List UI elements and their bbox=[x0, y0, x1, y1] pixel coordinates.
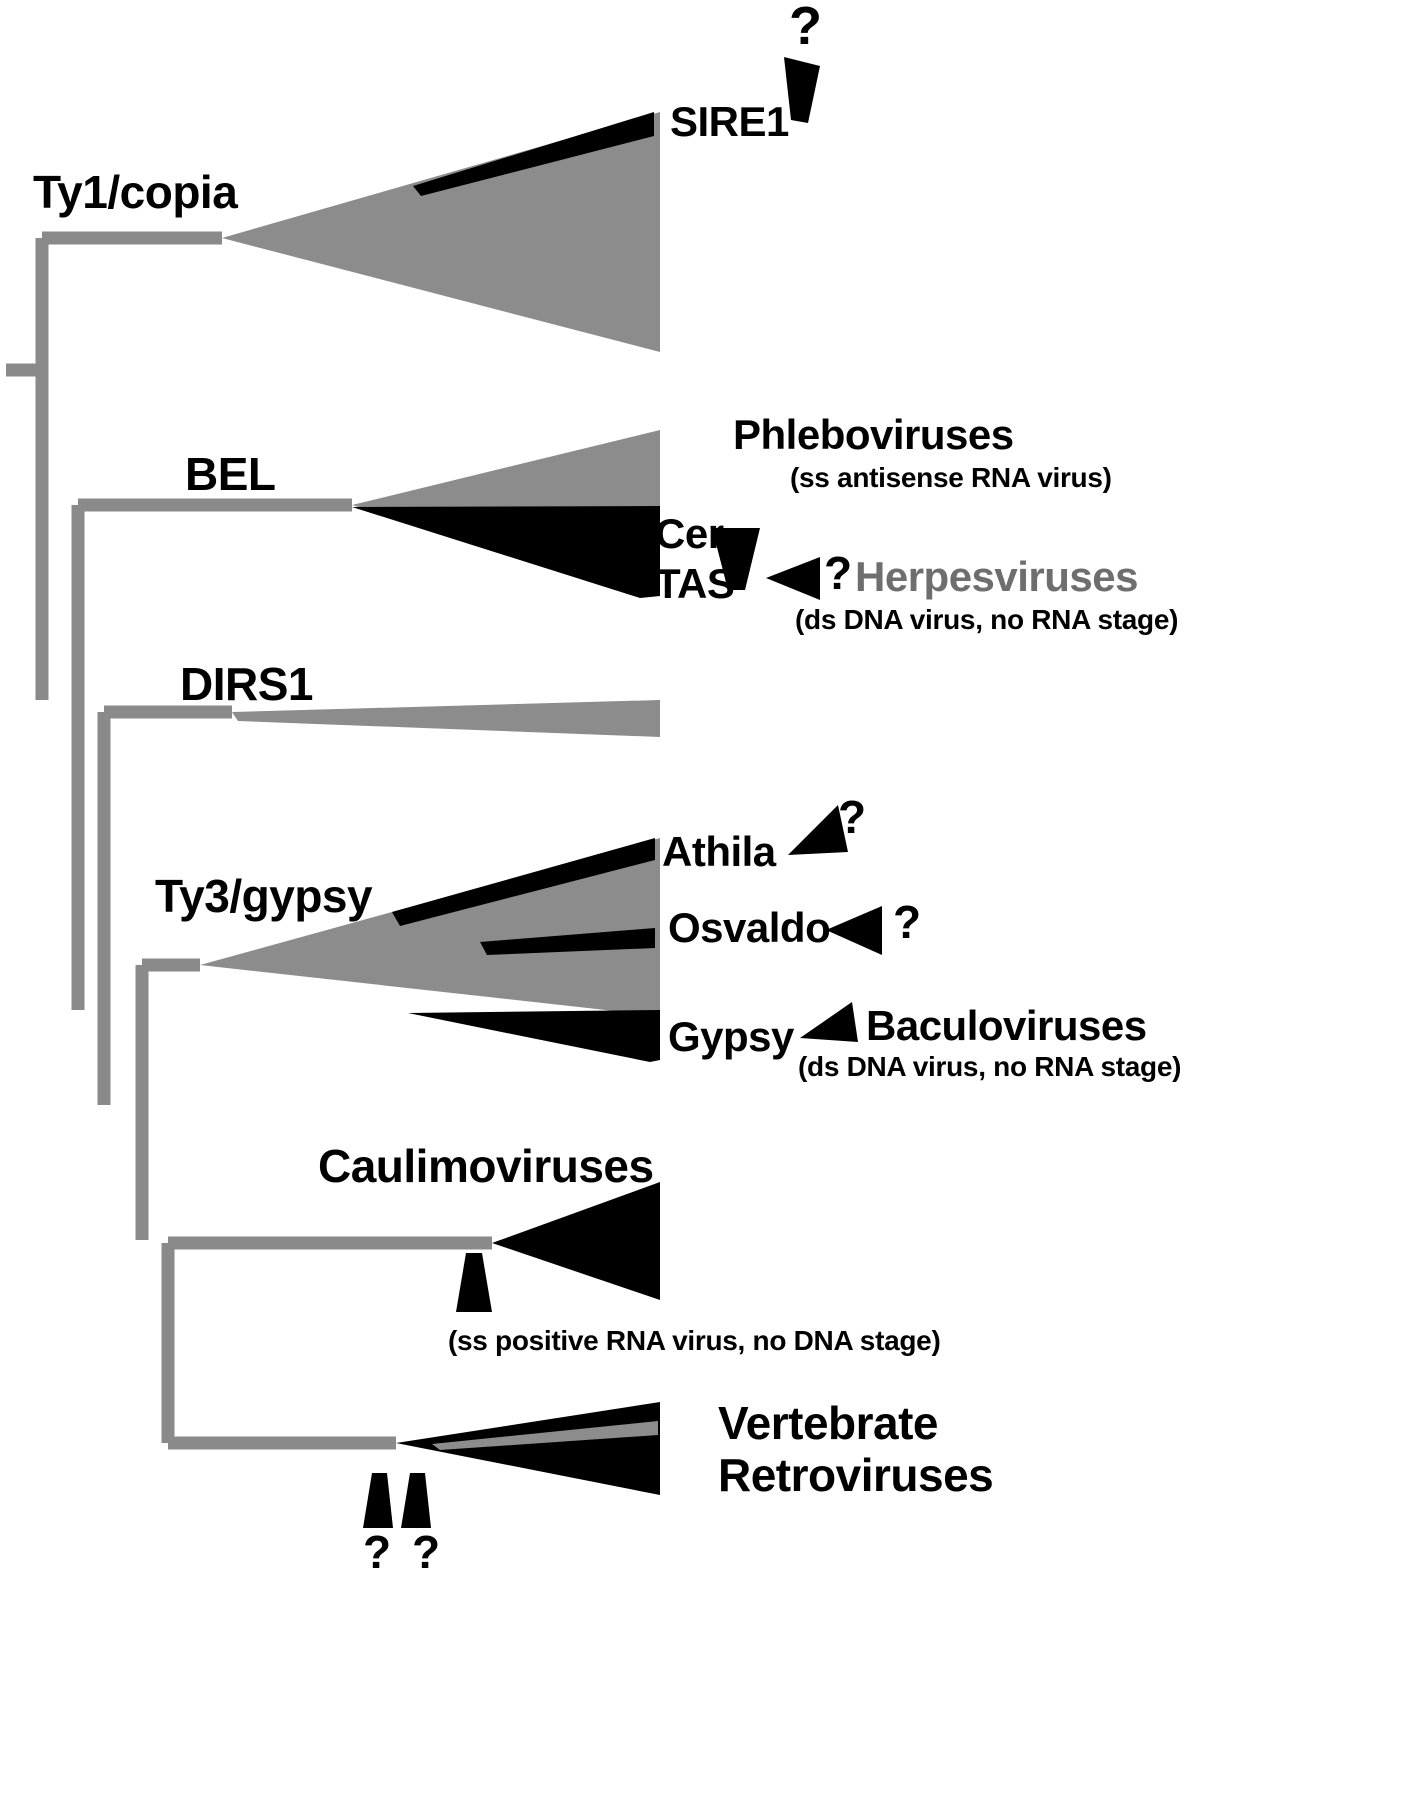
taxon-label-tas: TAS bbox=[655, 562, 734, 606]
virus-caption-caulimoviruses: (ss positive RNA virus, no DNA stage) bbox=[448, 1326, 940, 1355]
wedge-caulimoviruses bbox=[492, 1182, 660, 1300]
question-mark-vertretro-2: ? bbox=[412, 1528, 440, 1576]
arrow-vertretro-up-2 bbox=[401, 1473, 431, 1528]
wedge-vertebrate-retroviruses bbox=[396, 1402, 660, 1495]
taxon-label-cer: Cer bbox=[655, 512, 724, 556]
taxon-label-gypsy: Gypsy bbox=[668, 1015, 794, 1059]
question-mark-vertretro-1: ? bbox=[363, 1528, 391, 1576]
arrow-vertretro-up-1 bbox=[363, 1473, 393, 1528]
clade-label-vertebrate-retroviruses-line1: Vertebrate bbox=[718, 1398, 993, 1450]
arrow-herpesviruses-left bbox=[766, 557, 820, 600]
clade-label-vertebrate-retroviruses: Vertebrate Retroviruses bbox=[718, 1398, 993, 1501]
clade-label-vertebrate-retroviruses-line2: Retroviruses bbox=[718, 1450, 993, 1502]
virus-label-herpesviruses: Herpesviruses bbox=[855, 555, 1138, 599]
wedge-bel bbox=[352, 430, 660, 598]
virus-caption-herpesviruses: (ds DNA virus, no RNA stage) bbox=[795, 605, 1178, 634]
virus-label-phleboviruses: Phleboviruses bbox=[733, 413, 1014, 457]
clade-label-dirs1: DIRS1 bbox=[180, 660, 313, 708]
taxon-label-osvaldo: Osvaldo bbox=[668, 906, 830, 950]
wedge-ty3gypsy-gypsy-black bbox=[408, 1010, 660, 1062]
wedge-bel-cer-tas-black bbox=[352, 506, 660, 598]
clade-label-ty3-gypsy: Ty3/gypsy bbox=[155, 872, 372, 920]
virus-label-baculoviruses: Baculoviruses bbox=[866, 1004, 1147, 1048]
arrow-osvaldo-left bbox=[826, 906, 882, 955]
question-mark-athila: ? bbox=[838, 793, 866, 841]
arrow-sire1-down bbox=[784, 57, 820, 123]
clade-label-bel: BEL bbox=[185, 450, 276, 498]
clade-label-ty1-copia: Ty1/copia bbox=[33, 168, 237, 216]
taxon-label-sire1: SIRE1 bbox=[670, 100, 789, 144]
wedge-caulimoviruses-black bbox=[492, 1182, 660, 1300]
taxon-label-athila: Athila bbox=[662, 830, 776, 874]
question-mark-tas: ? bbox=[824, 549, 852, 597]
wedge-ty1copia bbox=[222, 112, 660, 352]
arrow-caulimoviruses-up bbox=[456, 1253, 492, 1312]
tree-branches bbox=[6, 238, 492, 1443]
question-mark-sire1: ? bbox=[789, 0, 822, 55]
question-mark-osvaldo: ? bbox=[893, 898, 921, 946]
virus-caption-baculoviruses: (ds DNA virus, no RNA stage) bbox=[798, 1052, 1181, 1081]
wedge-vertretro-black bbox=[396, 1402, 660, 1495]
clade-label-caulimoviruses: Caulimoviruses bbox=[318, 1142, 654, 1190]
virus-caption-phleboviruses: (ss antisense RNA virus) bbox=[790, 463, 1112, 492]
figure-canvas: Ty1/copia BEL DIRS1 Ty3/gypsy Caulimovir… bbox=[0, 0, 1405, 1800]
arrow-baculoviruses-left bbox=[800, 1002, 858, 1042]
